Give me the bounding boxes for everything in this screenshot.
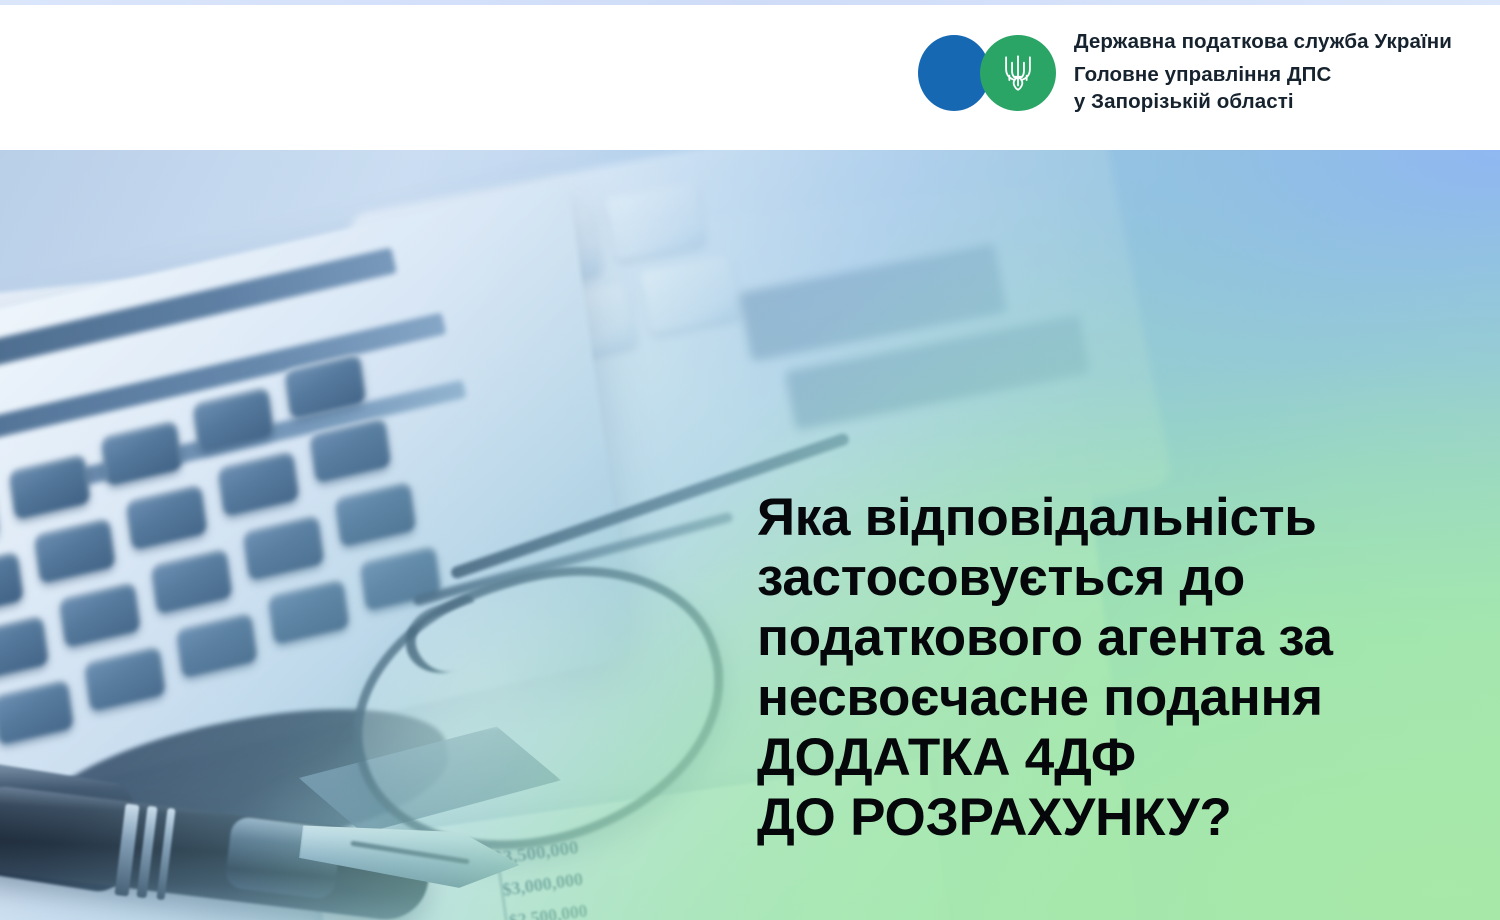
org-line-3: у Запорізькій області [1074, 89, 1452, 116]
headline-line-2: застосовується до [757, 548, 1487, 608]
headline-line-3: податкового агента за [757, 608, 1487, 668]
headline-line-1: Яка відповідальність [757, 488, 1487, 548]
organization-logo-block: Державна податкова служба України Головн… [918, 30, 1452, 115]
hero-photo-area: $3,500,000 $3,000,000 $2,500,000 $2,000,… [0, 150, 1500, 920]
headline-emphasis-line-2: ДО РОЗРАХУНКУ? [757, 788, 1487, 848]
organization-name: Державна податкова служба України Головн… [1074, 30, 1452, 115]
org-line-2: Головне управління ДПС [1074, 62, 1452, 89]
tryzub-icon [1001, 53, 1035, 93]
headline-emphasis-line-1: ДОДАТКА 4ДФ [757, 728, 1487, 788]
banner-page: Державна податкова служба України Головн… [0, 0, 1500, 920]
page-header: Державна податкова служба України Головн… [0, 5, 1500, 150]
green-circle-icon [980, 35, 1056, 111]
headline-block: Яка відповідальність застосовується до п… [757, 488, 1487, 848]
logo-marks [918, 35, 1060, 111]
headline-line-4: несвоєчасне подання [757, 668, 1487, 728]
org-line-1: Державна податкова служба України [1074, 30, 1452, 54]
